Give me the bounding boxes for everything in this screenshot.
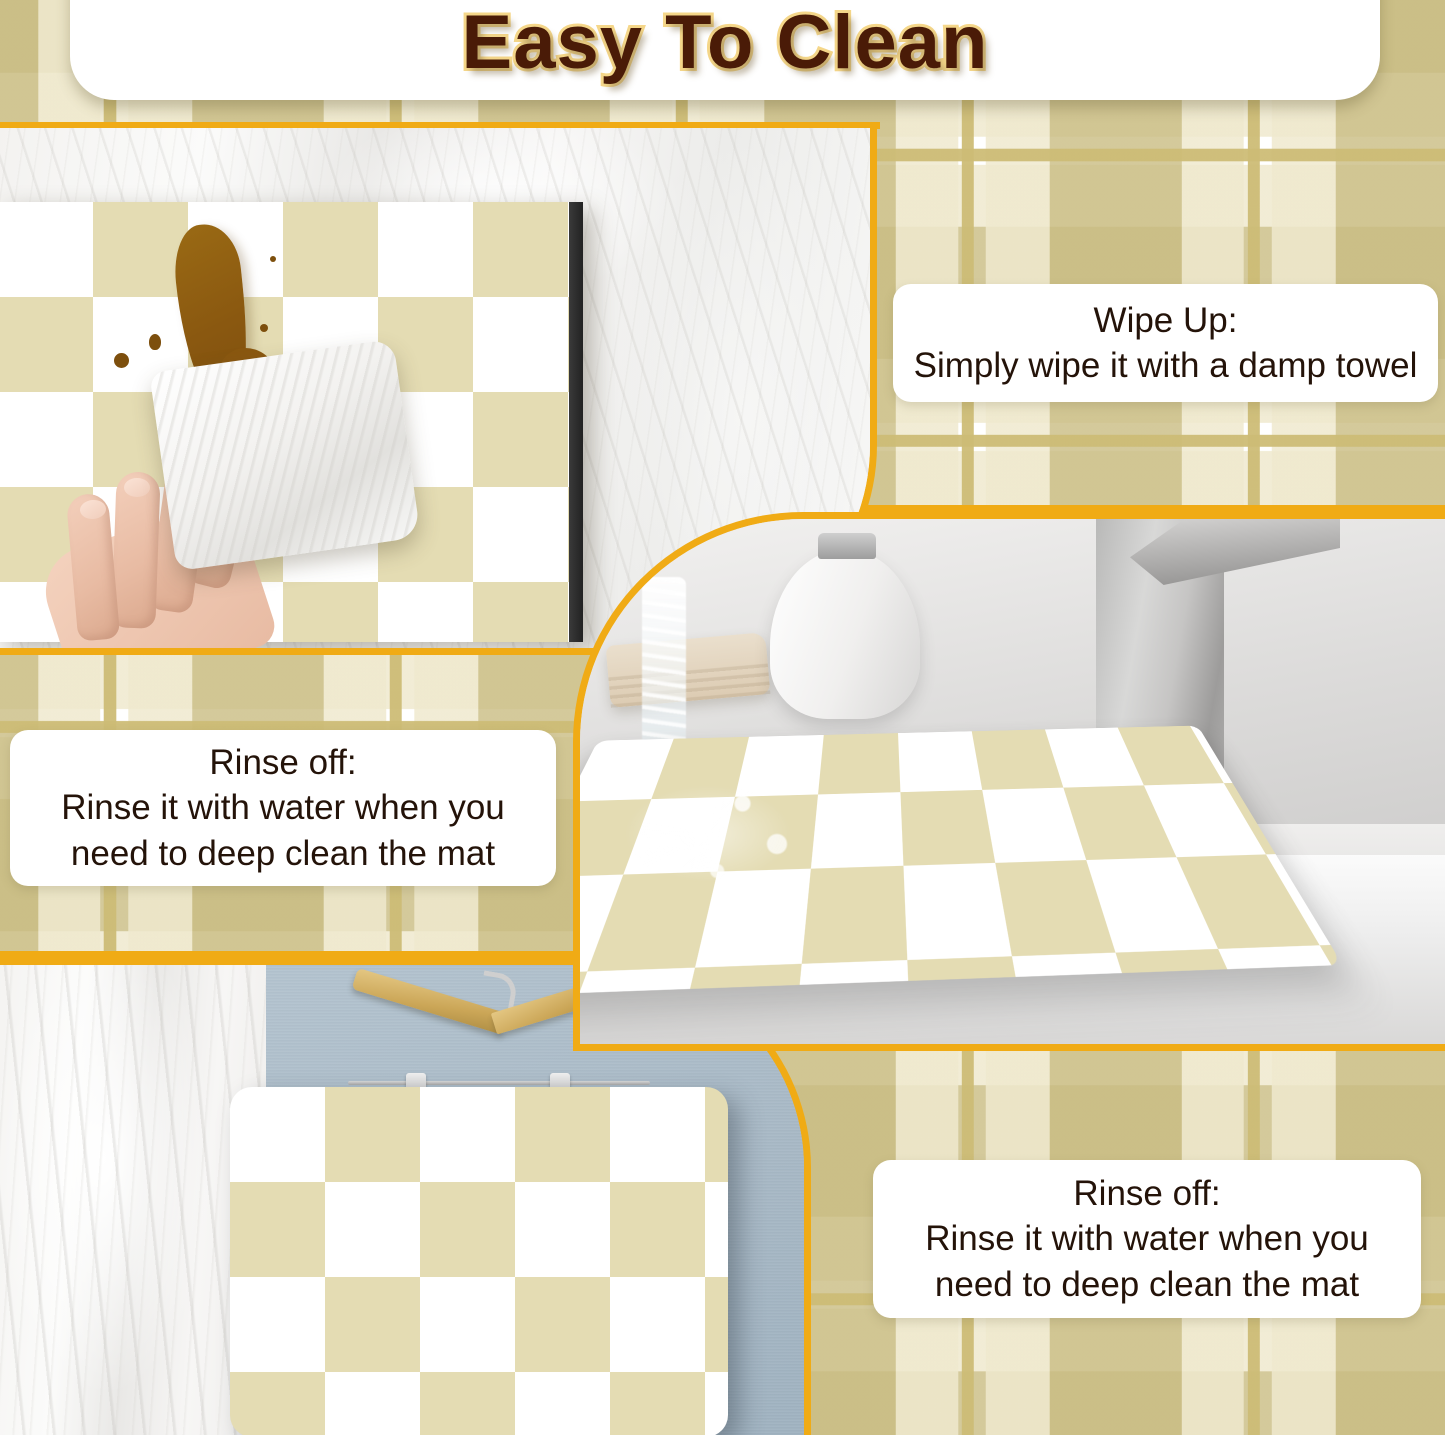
callout-rinse-left-heading: Rinse off: (10, 740, 556, 786)
callout-rinse-right-line1: Rinse it with water when you (873, 1216, 1421, 1262)
callout-rinse-left: Rinse off: Rinse it with water when you … (10, 730, 556, 886)
water-splash (616, 751, 846, 901)
stain-droplet (114, 353, 129, 368)
fingernail (124, 478, 150, 497)
callout-wipe-heading: Wipe Up: (893, 298, 1438, 344)
callout-rinse-right: Rinse off: Rinse it with water when you … (873, 1160, 1421, 1318)
page-title: Easy To Clean (462, 0, 989, 100)
stain-droplet (270, 256, 276, 262)
callout-wipe-body: Simply wipe it with a damp towel (893, 343, 1438, 389)
infographic-root: Easy To Clean Wipe Up: Simply wipe it wi… (0, 0, 1445, 1435)
panel-rinse-sink (573, 512, 1445, 1051)
checkered-mat-hanging (230, 1087, 728, 1435)
marble-wall-background (0, 965, 266, 1435)
white-towel (149, 339, 420, 571)
gold-rule-right-top (860, 505, 1445, 512)
callout-rinse-left-line2: need to deep clean the mat (10, 831, 556, 877)
callout-rinse-left-line1: Rinse it with water when you (10, 785, 556, 831)
callout-rinse-right-heading: Rinse off: (873, 1171, 1421, 1217)
stain-droplet (149, 334, 161, 350)
soap-dispenser-pump (818, 533, 876, 559)
callout-wipe-up: Wipe Up: Simply wipe it with a damp towe… (893, 284, 1438, 402)
hanger-crossbar (348, 1081, 650, 1085)
callout-rinse-right-line2: need to deep clean the mat (873, 1262, 1421, 1308)
stain-droplet (260, 324, 268, 332)
title-banner: Easy To Clean (70, 0, 1380, 100)
